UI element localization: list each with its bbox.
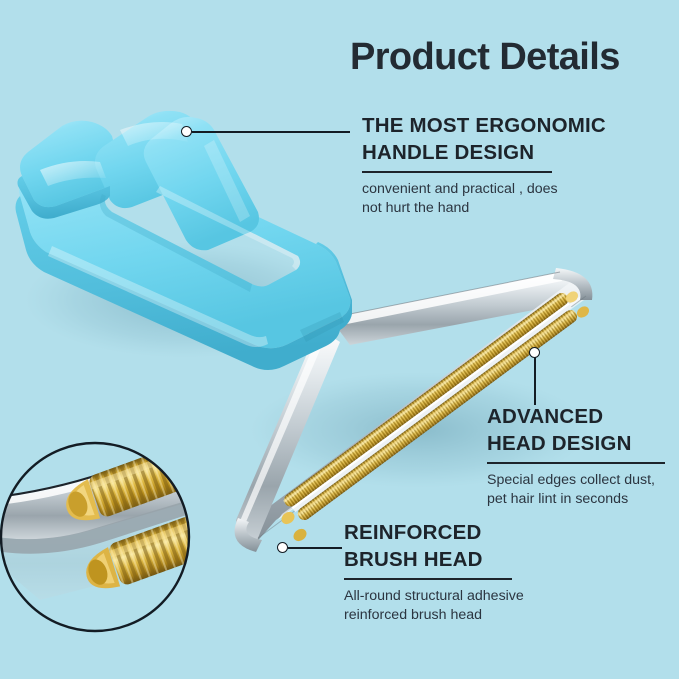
callout-body: Special edges collect dust, pet hair lin… [487,471,677,509]
leader-dot-advanced [529,347,540,358]
callout-body: convenient and practical , does not hurt… [362,180,650,218]
callout-advanced-head-design: ADVANCED HEAD DESIGN Special edges colle… [487,403,677,509]
callout-heading: ADVANCED HEAD DESIGN [487,403,677,457]
callout-body-line2: pet hair lint in seconds [487,490,677,509]
callout-heading-line1: ADVANCED [487,403,677,430]
callout-body-line2: reinforced brush head [344,606,594,625]
callout-body-line1: Special edges collect dust, [487,471,677,490]
callout-divider [362,171,552,173]
callout-heading-line2: HEAD DESIGN [487,430,677,457]
callout-heading-line2: BRUSH HEAD [344,546,594,573]
callout-reinforced-brush-head: REINFORCED BRUSH HEAD All-round structur… [344,519,594,625]
callout-body-line2: not hurt the hand [362,199,650,218]
callout-divider [344,578,512,580]
callout-heading-line2: HANDLE DESIGN [362,139,650,166]
callout-heading-line1: THE MOST ERGONOMIC [362,112,650,139]
callout-heading-line1: REINFORCED [344,519,594,546]
callout-heading: REINFORCED BRUSH HEAD [344,519,594,573]
leader-dot-ergonomic [181,126,192,137]
leader-line-ergonomic [192,131,350,133]
product-details-infographic: Product Details THE MOST ERGONOMIC HANDL… [0,0,679,679]
callout-heading: THE MOST ERGONOMIC HANDLE DESIGN [362,112,650,166]
callout-body-line1: convenient and practical , does [362,180,650,199]
leader-dot-brush [277,542,288,553]
callout-ergonomic-handle: THE MOST ERGONOMIC HANDLE DESIGN conveni… [362,112,650,218]
callout-body: All-round structural adhesive reinforced… [344,587,594,625]
leader-line-brush [288,547,342,549]
callout-body-line1: All-round structural adhesive [344,587,594,606]
leader-line-advanced [534,357,536,405]
page-title: Product Details [350,34,650,80]
callout-divider [487,462,665,464]
